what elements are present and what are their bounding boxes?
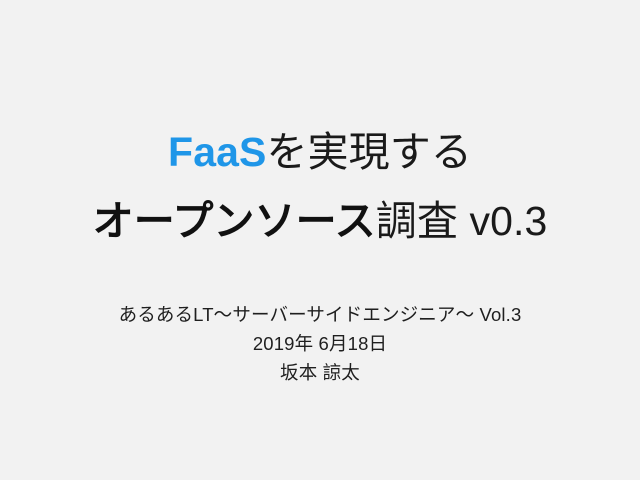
title-line-2: オープンソース調査 v0.3 bbox=[0, 187, 640, 256]
title-line-2-rest: 調査 v0.3 bbox=[376, 198, 548, 244]
title-line-1-rest: を実現する bbox=[266, 129, 472, 175]
title-line-1: FaaSを実現する bbox=[0, 118, 640, 187]
title-accent-faas: FaaS bbox=[168, 129, 266, 175]
page-title: FaaSを実現する オープンソース調査 v0.3 bbox=[0, 118, 640, 256]
subtitle-event-name: あるあるLT〜サーバーサイドエンジニア〜 Vol.3 bbox=[0, 300, 640, 329]
subtitle-author: 坂本 諒太 bbox=[0, 358, 640, 387]
presentation-title-slide: FaaSを実現する オープンソース調査 v0.3 あるあるLT〜サーバーサイドエ… bbox=[0, 0, 640, 480]
subtitle-block: あるあるLT〜サーバーサイドエンジニア〜 Vol.3 2019年 6月18日 坂… bbox=[0, 300, 640, 387]
subtitle-date: 2019年 6月18日 bbox=[0, 329, 640, 358]
title-strong-opensource: オープンソース bbox=[93, 198, 376, 244]
